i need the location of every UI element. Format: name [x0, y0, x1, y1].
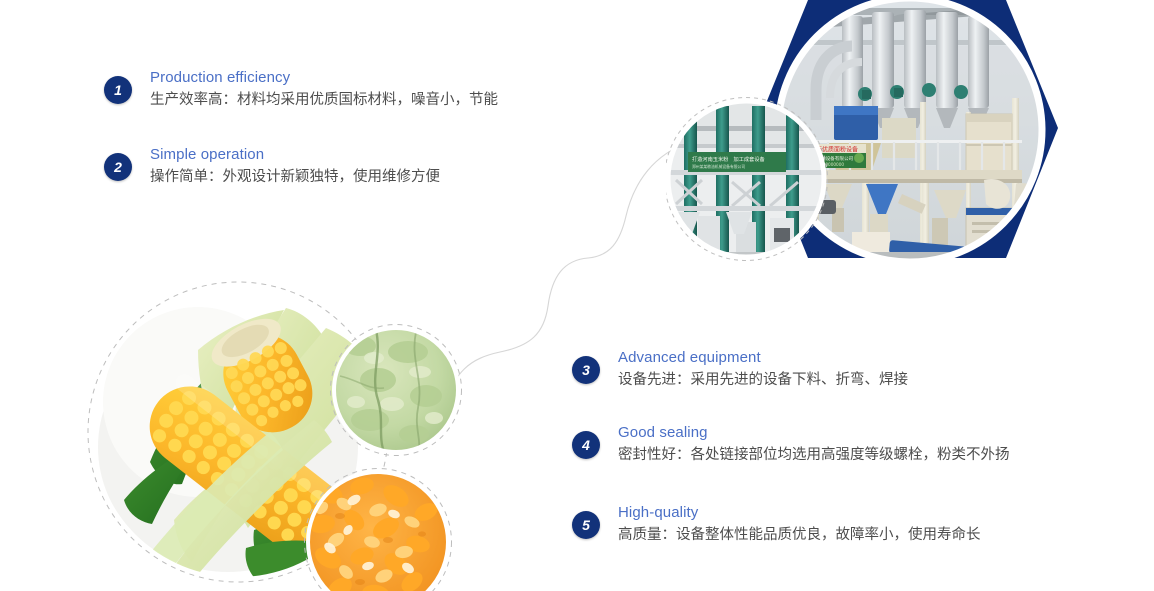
feature-title-cn-2: 操作简单：外观设计新颖独特，使用维修方便	[150, 166, 440, 188]
feature-badge-1: 1	[104, 76, 132, 104]
feature-item-3[interactable]: 3 Advanced equipment 设备先进：采用先进的设备下料、折弯、焊…	[572, 348, 908, 391]
feature-title-en-2: Simple operation	[150, 145, 440, 165]
feature-text-3: Advanced equipment 设备先进：采用先进的设备下料、折弯、焊接	[618, 348, 908, 391]
feature-badge-3: 3	[572, 356, 600, 384]
feature-item-2[interactable]: 2 Simple operation 操作简单：外观设计新颖独特，使用维修方便	[104, 145, 440, 188]
feature-title-cn-3: 设备先进：采用先进的设备下料、折弯、焊接	[618, 369, 908, 391]
feature-badge-4: 4	[572, 431, 600, 459]
feature-item-1[interactable]: 1 Production efficiency 生产效率高：材料均采用优质国标材…	[104, 68, 498, 111]
feature-item-5[interactable]: 5 High-quality 高质量：设备整体性能品质优良，故障率小，使用寿命长	[572, 503, 981, 546]
svg-text:郑州某某粮油机械设备有限公司: 郑州某某粮油机械设备有限公司	[692, 164, 745, 169]
feature-title-en-5: High-quality	[618, 503, 981, 523]
feature-text-5: High-quality 高质量：设备整体性能品质优良，故障率小，使用寿命长	[618, 503, 981, 546]
feature-title-en-4: Good sealing	[618, 423, 1010, 443]
feature-text-1: Production efficiency 生产效率高：材料均采用优质国标材料，…	[150, 68, 498, 111]
feature-title-en-1: Production efficiency	[150, 68, 498, 88]
feature-item-4[interactable]: 4 Good sealing 密封性好：各处链接部位均选用高强度等级螺栓，粉类不…	[572, 423, 1010, 466]
svg-text:打造河南玉米粉 加工成套设备: 打造河南玉米粉 加工成套设备	[692, 155, 765, 163]
feature-panel: 打造河南优质面粉设备 郑州某某机械设备有限公司 电话：0371-00000000	[0, 0, 1154, 591]
feature-title-cn-5: 高质量：设备整体性能品质优良，故障率小，使用寿命长	[618, 524, 981, 546]
hexagon-media-group: 打造河南优质面粉设备 郑州某某机械设备有限公司 电话：0371-00000000	[666, 0, 1154, 269]
feature-text-4: Good sealing 密封性好：各处链接部位均选用高强度等级螺栓，粉类不外扬	[618, 423, 1010, 466]
feature-title-cn-4: 密封性好：各处链接部位均选用高强度等级螺栓，粉类不外扬	[618, 444, 1010, 466]
feature-title-en-3: Advanced equipment	[618, 348, 908, 368]
feature-badge-5: 5	[572, 511, 600, 539]
corn-media-group	[78, 272, 478, 591]
feature-title-cn-1: 生产效率高：材料均采用优质国标材料，噪音小，节能	[150, 89, 498, 111]
feature-badge-2: 2	[104, 153, 132, 181]
feature-text-2: Simple operation 操作简单：外观设计新颖独特，使用维修方便	[150, 145, 440, 188]
